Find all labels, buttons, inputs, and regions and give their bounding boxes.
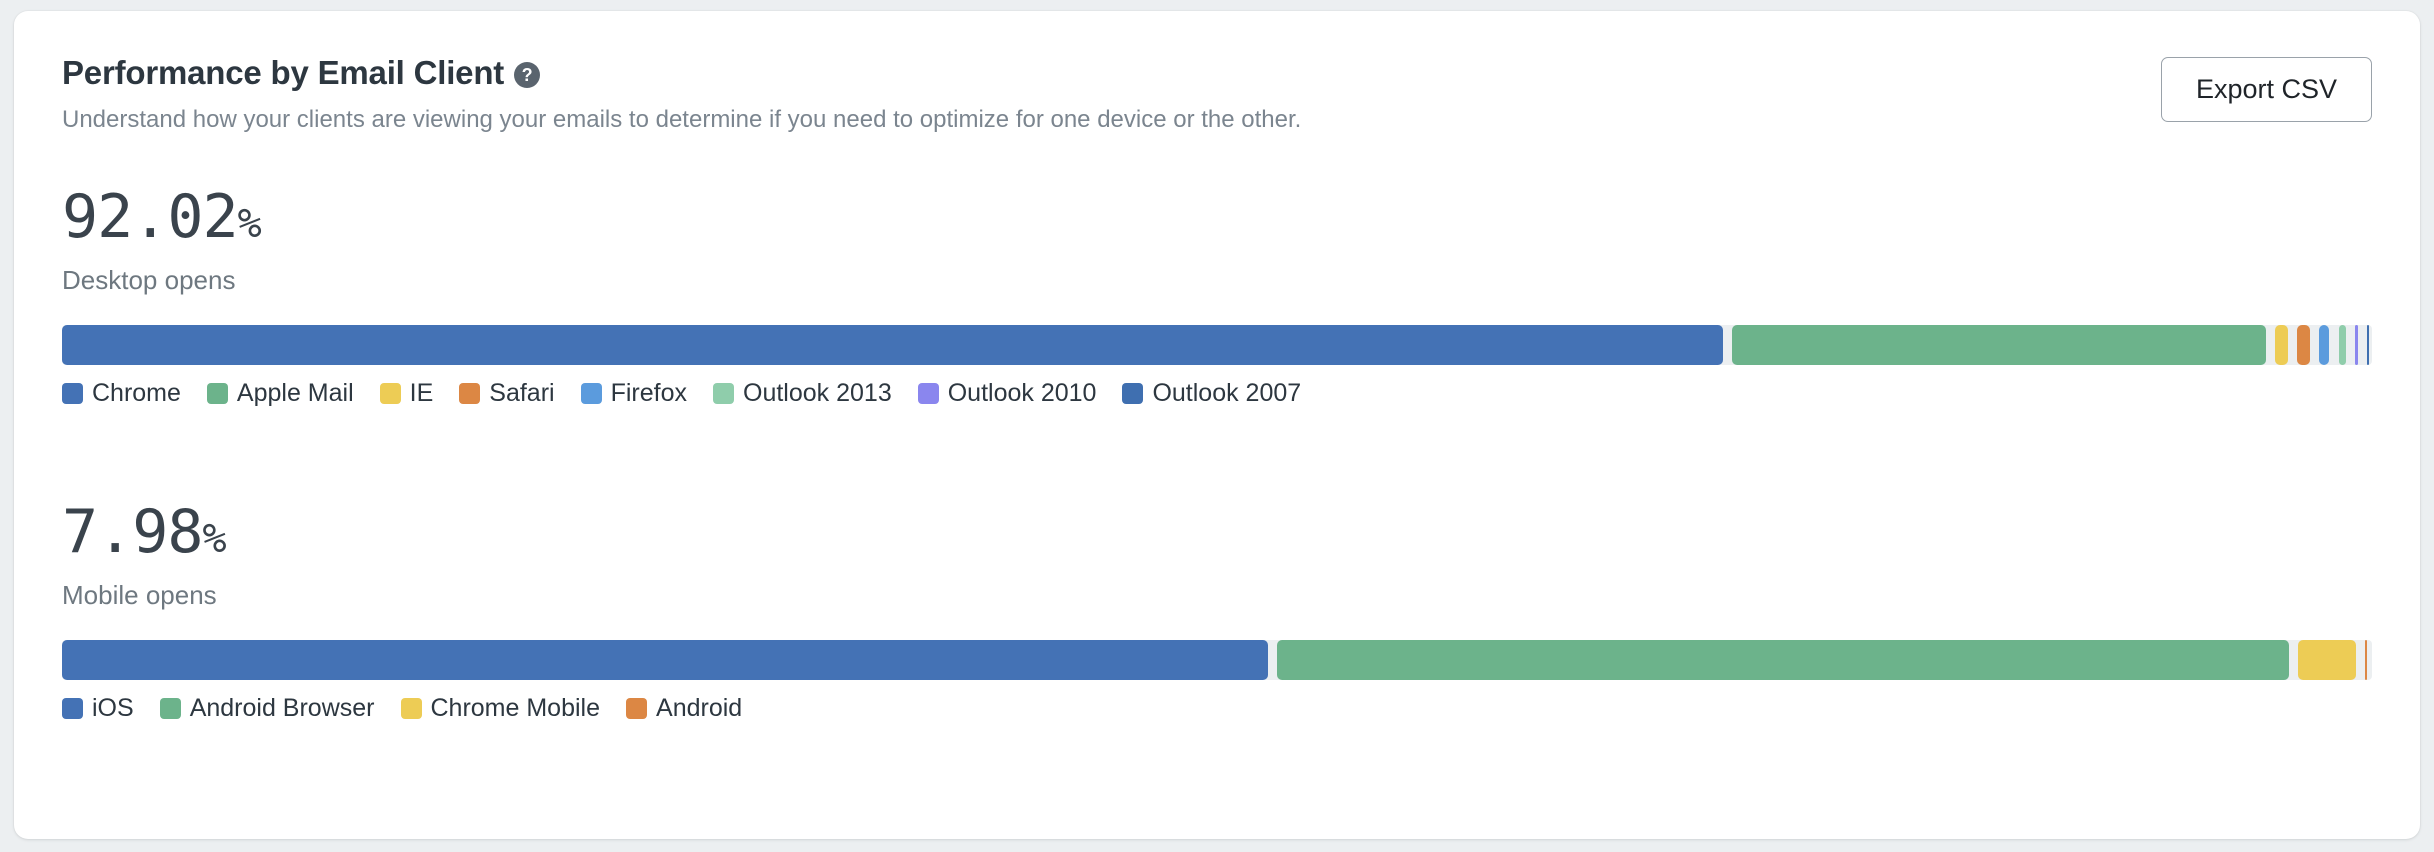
legend-label: Firefox bbox=[611, 381, 687, 406]
bar-segment[interactable] bbox=[2355, 325, 2359, 365]
mobile-opens-number: 7.98 bbox=[62, 501, 203, 564]
mobile-stacked-bar bbox=[62, 640, 2372, 680]
legend-swatch-icon bbox=[401, 698, 422, 719]
desktop-opens-value: 92.02% bbox=[62, 186, 2372, 249]
bar-segment[interactable] bbox=[2367, 325, 2369, 365]
page-title: Performance by Email Client bbox=[62, 55, 504, 91]
desktop-opens-section: 92.02% Desktop opens ChromeApple MailIES… bbox=[14, 186, 2420, 406]
desktop-legend-item[interactable]: Firefox bbox=[581, 381, 687, 406]
legend-swatch-icon bbox=[459, 383, 480, 404]
legend-swatch-icon bbox=[380, 383, 401, 404]
legend-label: Chrome bbox=[92, 381, 181, 406]
bar-segment[interactable] bbox=[2297, 325, 2310, 365]
mobile-legend-item[interactable]: iOS bbox=[62, 696, 134, 721]
legend-swatch-icon bbox=[62, 383, 83, 404]
legend-label: Chrome Mobile bbox=[431, 696, 601, 721]
bar-segment[interactable] bbox=[2365, 640, 2367, 680]
mobile-opens-value: 7.98% bbox=[62, 501, 2372, 564]
bar-segment[interactable] bbox=[62, 325, 1723, 365]
export-csv-button[interactable]: Export CSV bbox=[2161, 57, 2372, 122]
legend-label: IE bbox=[410, 381, 434, 406]
legend-swatch-icon bbox=[207, 383, 228, 404]
legend-label: Safari bbox=[489, 381, 554, 406]
legend-swatch-icon bbox=[713, 383, 734, 404]
legend-label: Android bbox=[656, 696, 742, 721]
bar-segment[interactable] bbox=[2319, 325, 2330, 365]
legend-swatch-icon bbox=[626, 698, 647, 719]
performance-by-email-client-card: Performance by Email Client ? Understand… bbox=[14, 11, 2420, 839]
desktop-legend-item[interactable]: IE bbox=[380, 381, 434, 406]
bar-segment[interactable] bbox=[2275, 325, 2288, 365]
desktop-legend-item[interactable]: Outlook 2013 bbox=[713, 381, 892, 406]
mobile-legend-item[interactable]: Android Browser bbox=[160, 696, 375, 721]
legend-label: Outlook 2013 bbox=[743, 381, 892, 406]
legend-swatch-icon bbox=[62, 698, 83, 719]
desktop-legend-item[interactable]: Safari bbox=[459, 381, 554, 406]
desktop-opens-number: 92.02 bbox=[62, 186, 238, 249]
legend-swatch-icon bbox=[918, 383, 939, 404]
title-row: Performance by Email Client ? bbox=[62, 55, 1301, 91]
card-subtitle: Understand how your clients are viewing … bbox=[62, 104, 1301, 135]
bar-segment[interactable] bbox=[2339, 325, 2346, 365]
bar-segment[interactable] bbox=[2298, 640, 2356, 680]
mobile-legend: iOSAndroid BrowserChrome MobileAndroid bbox=[62, 696, 2372, 721]
card-header-text: Performance by Email Client ? Understand… bbox=[62, 55, 1301, 135]
desktop-legend-item[interactable]: Outlook 2007 bbox=[1122, 381, 1301, 406]
desktop-legend-item[interactable]: Chrome bbox=[62, 381, 181, 406]
desktop-legend-item[interactable]: Apple Mail bbox=[207, 381, 354, 406]
desktop-opens-label: Desktop opens bbox=[62, 265, 2372, 296]
desktop-legend: ChromeApple MailIESafariFirefoxOutlook 2… bbox=[62, 381, 2372, 406]
mobile-percent-symbol: % bbox=[203, 518, 227, 560]
legend-swatch-icon bbox=[1122, 383, 1143, 404]
bar-segment[interactable] bbox=[62, 640, 1268, 680]
mobile-opens-label: Mobile opens bbox=[62, 580, 2372, 611]
mobile-legend-item[interactable]: Chrome Mobile bbox=[401, 696, 601, 721]
card-header: Performance by Email Client ? Understand… bbox=[14, 11, 2420, 135]
legend-swatch-icon bbox=[581, 383, 602, 404]
legend-label: Android Browser bbox=[190, 696, 375, 721]
mobile-opens-section: 7.98% Mobile opens iOSAndroid BrowserChr… bbox=[14, 501, 2420, 721]
desktop-stacked-bar bbox=[62, 325, 2372, 365]
bar-segment[interactable] bbox=[1277, 640, 2289, 680]
desktop-percent-symbol: % bbox=[238, 203, 262, 245]
legend-label: Outlook 2007 bbox=[1152, 381, 1301, 406]
help-circle-icon[interactable]: ? bbox=[514, 62, 540, 88]
mobile-legend-item[interactable]: Android bbox=[626, 696, 742, 721]
legend-swatch-icon bbox=[160, 698, 181, 719]
desktop-legend-item[interactable]: Outlook 2010 bbox=[918, 381, 1097, 406]
bar-segment[interactable] bbox=[1732, 325, 2266, 365]
legend-label: Outlook 2010 bbox=[948, 381, 1097, 406]
legend-label: iOS bbox=[92, 696, 134, 721]
legend-label: Apple Mail bbox=[237, 381, 354, 406]
